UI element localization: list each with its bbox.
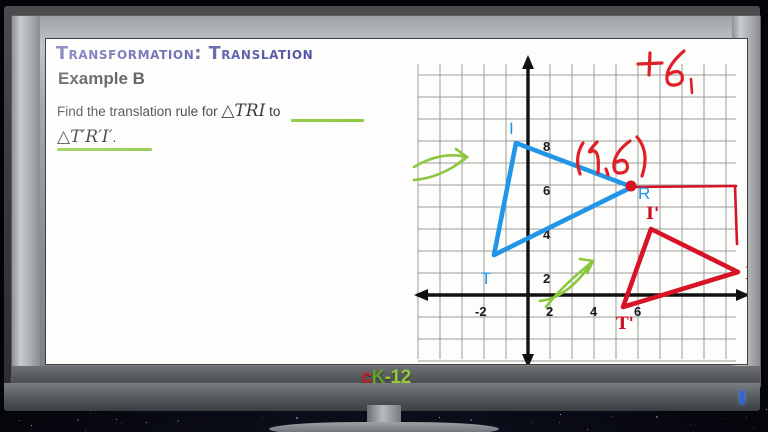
x-tick-4: 4 bbox=[590, 304, 598, 319]
star-dot bbox=[722, 418, 723, 419]
star-dot bbox=[439, 417, 440, 418]
vertex-label-R: R bbox=[638, 184, 650, 203]
star-dot bbox=[690, 424, 691, 425]
y-tick-6: 6 bbox=[543, 183, 550, 198]
star-dot bbox=[19, 420, 20, 421]
vertex-label-T-prime: T' bbox=[616, 314, 634, 334]
vertex-label-R-prime: R' bbox=[745, 264, 748, 284]
vertex-label-I: I bbox=[509, 119, 514, 138]
star-dot bbox=[532, 422, 533, 423]
star-dot bbox=[656, 416, 658, 418]
star-dot bbox=[177, 420, 179, 422]
star-dot bbox=[116, 419, 117, 420]
star-dot bbox=[296, 417, 298, 419]
tv-bezel: Transformation: Translation Example B Fi… bbox=[11, 15, 761, 388]
screenshot-stage: Transformation: Translation Example B Fi… bbox=[0, 0, 768, 432]
whiteboard-screen: Transformation: Translation Example B Fi… bbox=[45, 38, 748, 365]
star-dot bbox=[90, 413, 91, 414]
tv-stand-base bbox=[269, 422, 499, 432]
tv-chassis: Transformation: Translation Example B Fi… bbox=[4, 6, 760, 385]
y-tick-2: 2 bbox=[543, 271, 550, 286]
coordinate-graph: 8 6 4 2 -2 2 4 6 bbox=[46, 39, 748, 365]
vertex-label-I-prime: I' bbox=[646, 204, 659, 224]
annotation-shift-note bbox=[638, 51, 692, 93]
star-dot bbox=[612, 416, 613, 417]
bezel-left bbox=[12, 16, 40, 387]
star-dot bbox=[262, 417, 263, 418]
point-marker-R bbox=[626, 181, 637, 192]
x-tick-6: 6 bbox=[634, 304, 641, 319]
vertex-label-T: T bbox=[481, 269, 491, 288]
power-led-icon bbox=[740, 391, 744, 404]
triangle-TRI bbox=[494, 143, 632, 255]
x-tick-neg2: -2 bbox=[475, 304, 487, 319]
